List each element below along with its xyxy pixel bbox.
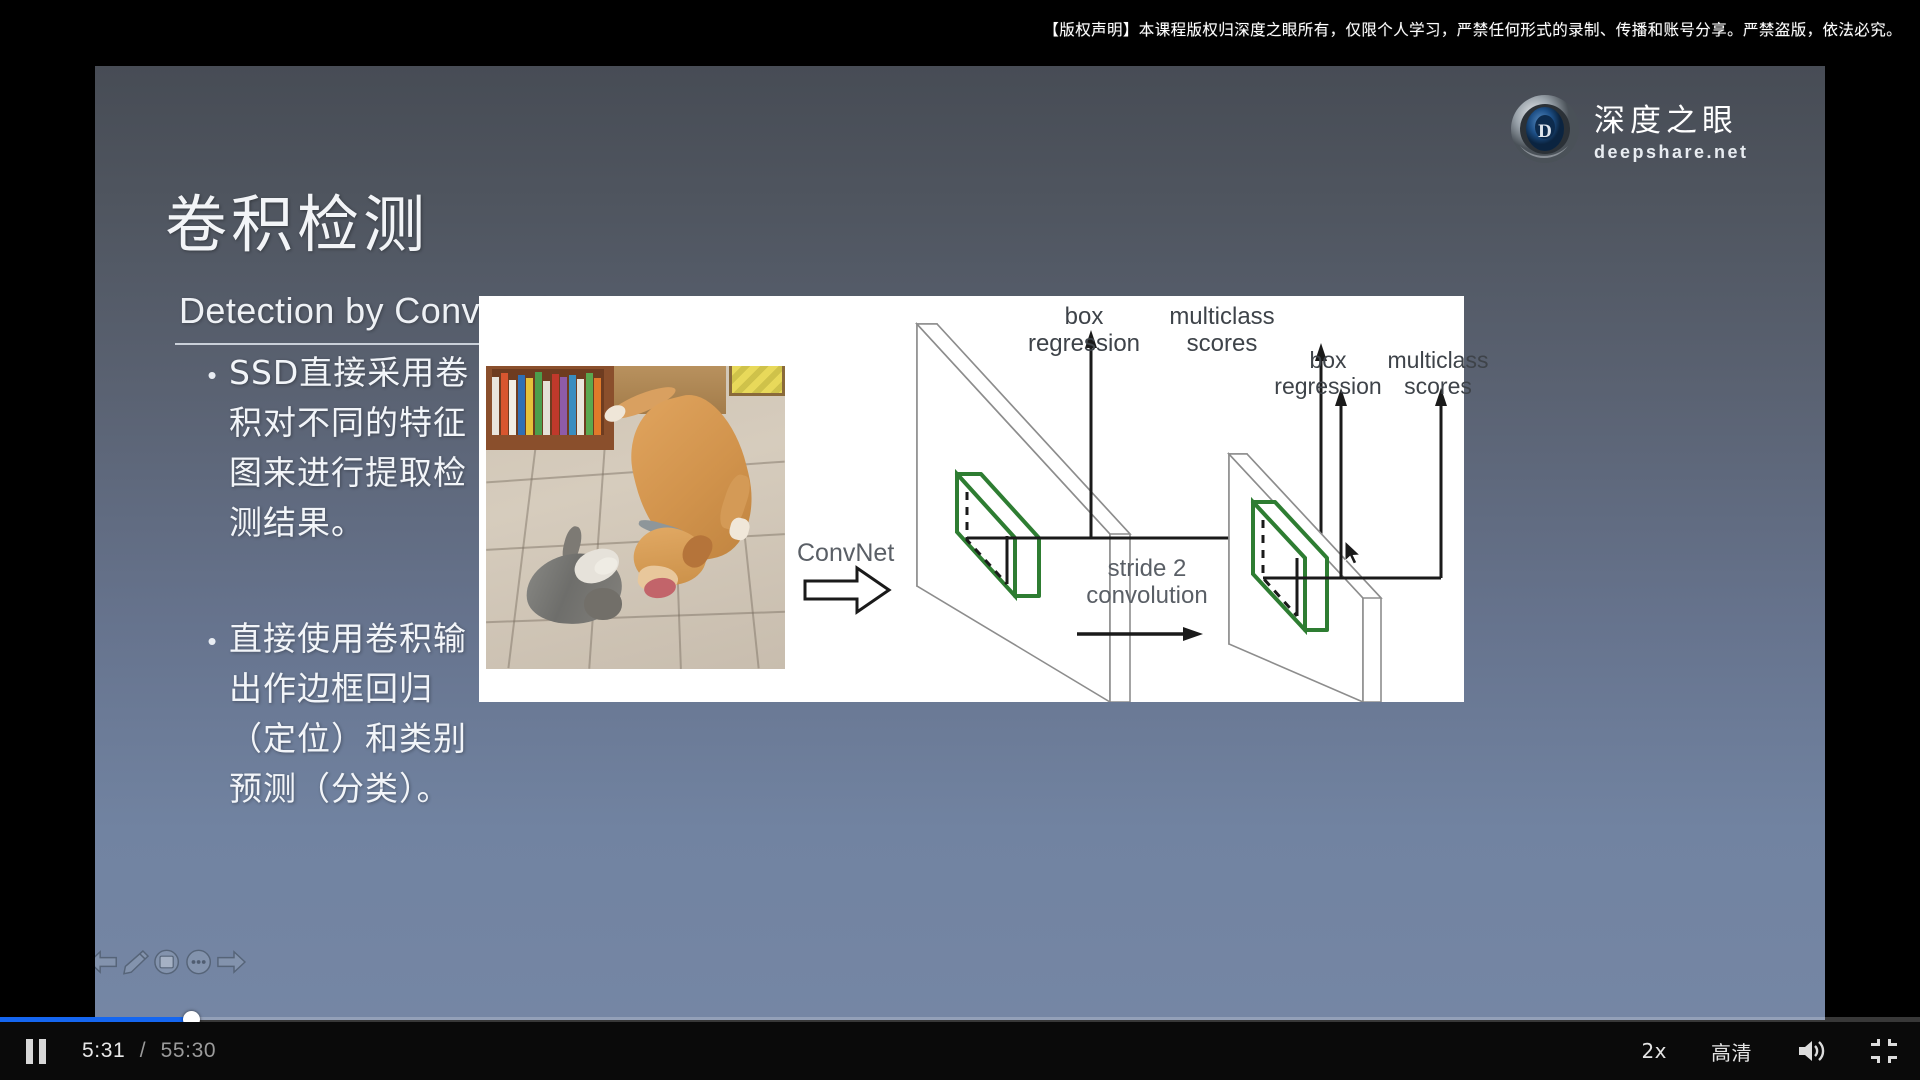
- feature-map-1: [917, 324, 1130, 702]
- copyright-text: 【版权声明】本课程版权归深度之眼所有，仅限个人学习，严禁任何形式的录制、传播和账…: [1043, 18, 1902, 40]
- figure-panel: ConvNet stride 2 convolution box regress…: [479, 296, 1464, 702]
- head2-box-regression-label: box regression: [1267, 347, 1389, 399]
- head1-box-line1: box: [1019, 303, 1149, 330]
- video-player-page: 【版权声明】本课程版权归深度之眼所有，仅限个人学习，严禁任何形式的录制、传播和账…: [0, 0, 1920, 1080]
- list-item: • 直接使用卷积输出作边框回归（定位）和类别预测（分类）。: [195, 614, 525, 814]
- bullet-list: • SSD直接采用卷积对不同的特征图来进行提取检测结果。 • 直接使用卷积输出作…: [195, 348, 525, 880]
- slide-title-cn: 卷积检测: [165, 174, 429, 264]
- svg-text:D: D: [1538, 121, 1552, 142]
- bullet-marker-icon: •: [195, 616, 229, 814]
- stride-label-line1: stride 2: [1077, 555, 1217, 582]
- brand-name-cn: 深度之眼: [1594, 95, 1749, 140]
- volume-icon[interactable]: [1796, 1038, 1826, 1064]
- copyright-banner: 【版权声明】本课程版权归深度之眼所有，仅限个人学习，严禁任何形式的录制、传播和账…: [0, 0, 1920, 58]
- ppt-navigation-overlay[interactable]: [95, 941, 247, 983]
- head2-cls-line1: multiclass: [1377, 347, 1499, 373]
- pause-button[interactable]: [26, 1039, 46, 1064]
- video-control-bar: 5:31 / 55:30 2x 高清: [0, 1022, 1920, 1080]
- total-time: 55:30: [161, 1039, 217, 1062]
- more-options-icon[interactable]: [184, 943, 213, 981]
- head2-multiclass-scores-label: multiclass scores: [1377, 347, 1499, 399]
- pause-bar-right: [39, 1039, 46, 1064]
- list-item: • SSD直接采用卷积对不同的特征图来进行提取检测结果。: [195, 348, 525, 548]
- pause-bar-left: [26, 1039, 33, 1064]
- bullet-text: 直接使用卷积输出作边框回归（定位）和类别预测（分类）。: [229, 614, 477, 814]
- dog-cat-photo: [486, 366, 785, 669]
- bullet-text: SSD直接采用卷积对不同的特征图来进行提取检测结果。: [229, 348, 477, 548]
- brand-logo: D 深度之眼 deepshare.net: [1510, 94, 1749, 164]
- time-display: 5:31 / 55:30: [82, 1039, 216, 1063]
- convnet-arrow-icon: [805, 568, 889, 612]
- exit-fullscreen-icon[interactable]: [1870, 1038, 1898, 1064]
- head1-box-regression-label: box regression: [1019, 303, 1149, 357]
- head2-cls-line2: scores: [1377, 373, 1499, 399]
- stride-label: stride 2 convolution: [1077, 555, 1217, 609]
- volume-button[interactable]: [1796, 1038, 1826, 1064]
- time-separator: /: [140, 1039, 146, 1062]
- playback-speed-button[interactable]: 2x: [1641, 1039, 1667, 1063]
- slide-menu-icon[interactable]: [152, 943, 181, 981]
- presentation-slide: D 深度之眼 deepshare.net 卷积检测 Detection by C…: [95, 66, 1825, 1020]
- head1-cls-line1: multiclass: [1157, 303, 1287, 330]
- next-slide-icon[interactable]: [215, 944, 247, 980]
- player-right-controls: 2x 高清: [1641, 1037, 1898, 1066]
- mouse-cursor-icon: [1345, 541, 1365, 569]
- pen-tool-icon[interactable]: [121, 944, 150, 980]
- bullet-marker-icon: •: [195, 350, 229, 548]
- brand-domain: deepshare.net: [1594, 142, 1749, 163]
- quality-button[interactable]: 高清: [1711, 1037, 1752, 1066]
- deepshare-eye-icon: D: [1510, 94, 1580, 164]
- convnet-label: ConvNet: [797, 539, 894, 568]
- prev-slide-icon[interactable]: [95, 944, 119, 980]
- head1-box-line2: regression: [1019, 330, 1149, 357]
- exit-fullscreen-button[interactable]: [1870, 1038, 1898, 1064]
- current-time: 5:31: [82, 1039, 125, 1062]
- stride-label-line2: convolution: [1077, 582, 1217, 609]
- head2-box-line2: regression: [1267, 373, 1389, 399]
- head2-box-line1: box: [1267, 347, 1389, 373]
